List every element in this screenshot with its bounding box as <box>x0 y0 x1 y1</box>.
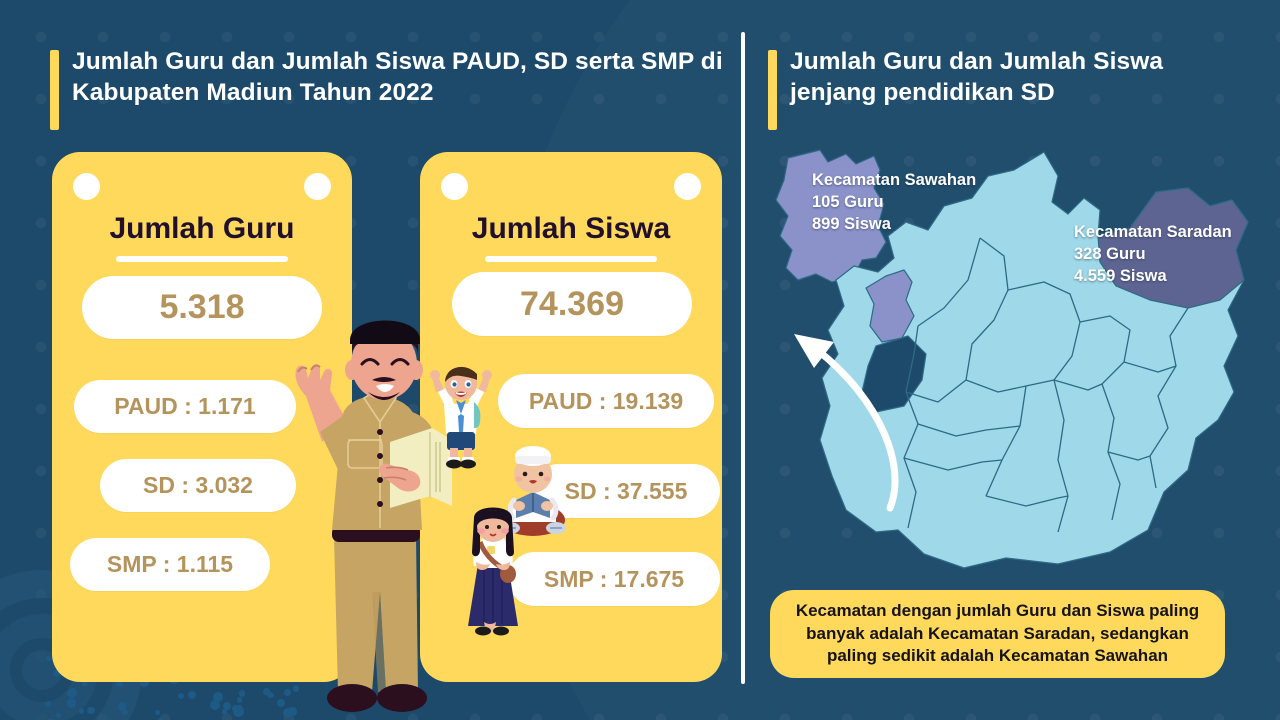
map-label-saradan-name: Kecamatan Saradan <box>1074 222 1232 244</box>
infographic-canvas: Jumlah Guru dan Jumlah Siswa PAUD, SD se… <box>0 0 1280 720</box>
map-label-saradan-guru: 328 Guru <box>1074 244 1232 266</box>
card-punch-hole-left <box>73 173 100 200</box>
card-punch-hole-right <box>304 173 331 200</box>
map-label-sawahan: Kecamatan Sawahan 105 Guru 899 Siswa <box>812 170 976 235</box>
vertical-divider <box>741 32 745 684</box>
stat-card-siswa: Jumlah Siswa 74.369 PAUD : 19.139 SD : 3… <box>420 152 722 682</box>
page-title-right: Jumlah Guru dan Jumlah Siswa jenjang pen… <box>790 46 1230 109</box>
map-caption-box: Kecamatan dengan jumlah Guru dan Siswa p… <box>770 590 1225 678</box>
siswa-total-pill: 74.369 <box>452 272 692 336</box>
guru-sd-pill: SD : 3.032 <box>100 459 296 512</box>
title-accent-bar-right <box>768 50 777 130</box>
map-label-sawahan-guru: 105 Guru <box>812 192 976 214</box>
page-title-left: Jumlah Guru dan Jumlah Siswa PAUD, SD se… <box>72 46 732 109</box>
siswa-smp-pill: SMP : 17.675 <box>508 552 720 606</box>
page-title-left-text: Jumlah Guru dan Jumlah Siswa PAUD, SD se… <box>72 48 723 106</box>
card-guru-heading: Jumlah Guru <box>52 212 352 246</box>
page-title-right-text: Jumlah Guru dan Jumlah Siswa jenjang pen… <box>790 48 1163 106</box>
siswa-sd-pill: SD : 37.555 <box>532 464 720 518</box>
siswa-paud-pill: PAUD : 19.139 <box>498 374 714 428</box>
map-label-saradan: Kecamatan Saradan 328 Guru 4.559 Siswa <box>1074 222 1232 287</box>
card-punch-hole-left <box>441 173 468 200</box>
card-siswa-heading: Jumlah Siswa <box>420 212 722 246</box>
card-siswa-underline <box>485 256 657 262</box>
map-label-sawahan-name: Kecamatan Sawahan <box>812 170 976 192</box>
map-label-sawahan-siswa: 899 Siswa <box>812 214 976 236</box>
guru-paud-pill: PAUD : 1.171 <box>74 380 296 433</box>
card-guru-underline <box>116 256 288 262</box>
guru-total-pill: 5.318 <box>82 276 322 339</box>
stat-card-guru: Jumlah Guru 5.318 PAUD : 1.171 SD : 3.03… <box>52 152 352 682</box>
map-label-saradan-siswa: 4.559 Siswa <box>1074 266 1232 288</box>
map-caption-text: Kecamatan dengan jumlah Guru dan Siswa p… <box>784 600 1211 669</box>
card-punch-hole-right <box>674 173 701 200</box>
title-accent-bar-left <box>50 50 59 130</box>
guru-smp-pill: SMP : 1.115 <box>70 538 270 591</box>
